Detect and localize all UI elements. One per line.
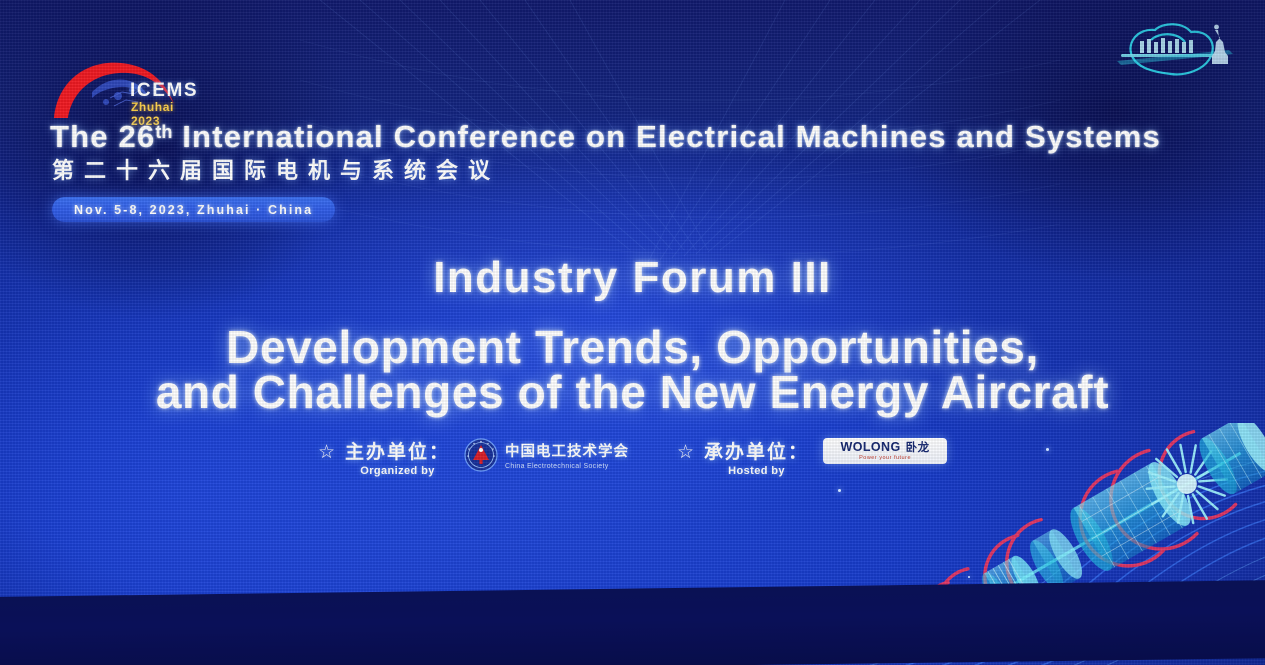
zhuhai-city-emblem-icon [1107,14,1247,86]
date-location-badge: Nov. 5-8, 2023, Zhuhai · China [52,197,335,222]
host-role-chinese: 承办单位： [704,437,809,464]
conference-title-english: The 26th International Conference on Ele… [50,119,1161,155]
wolong-name-chinese: 卧龙 [906,443,930,455]
ces-name-chinese: 中国电工技术学会 [505,440,629,461]
organizer-role: 主办单位： Organized by [345,437,450,477]
forum-title: Industry Forum III [0,253,1265,303]
sponsor-row: ☆ 主办单位： Organized by [0,437,1265,477]
organizer-role-english: Organized by [360,465,434,477]
organizer-role-chinese: 主办单位： [345,437,450,464]
icems-logo-text: ICEMS [130,80,198,102]
conference-title-chinese: 第二十六届国际电机与系统会议 [52,153,500,185]
date-location-text: Nov. 5-8, 2023, Zhuhai · China [74,203,313,217]
conference-title-ordinal: th [155,122,172,142]
wolong-name-english: WOLONG [841,441,901,454]
wolong-logo-plate: WOLONG 卧龙 Power your future [823,438,947,464]
conference-slide-screen: ICEMS Zhuhai 2023 The 26th International… [0,0,1265,665]
ces-emblem-icon [464,438,498,472]
host-role: 承办单位： Hosted by [704,437,809,477]
conference-title-prefix: The 26 [50,119,155,154]
topic-line-2: and Challenges of the New Energy Aircraf… [0,365,1265,419]
wolong-wordmark: WOLONG 卧龙 [841,441,930,455]
ces-name-english: China Electrotechnical Society [505,463,629,470]
wolong-tagline: Power your future [859,456,911,462]
star-icon: ☆ [318,443,335,462]
ces-logo-lockup: 中国电工技术学会 China Electrotechnical Society [464,438,629,472]
star-icon: ☆ [677,443,694,462]
host-block: ☆ 承办单位： Hosted by WOLONG 卧龙 Power your f… [677,437,947,477]
host-role-english: Hosted by [728,465,785,477]
organizer-block: ☆ 主办单位： Organized by [318,437,629,477]
icems-logo: ICEMS Zhuhai 2023 [52,52,202,124]
ces-name-block: 中国电工技术学会 China Electrotechnical Society [505,440,629,470]
conference-title-suffix: International Conference on Electrical M… [172,119,1161,154]
